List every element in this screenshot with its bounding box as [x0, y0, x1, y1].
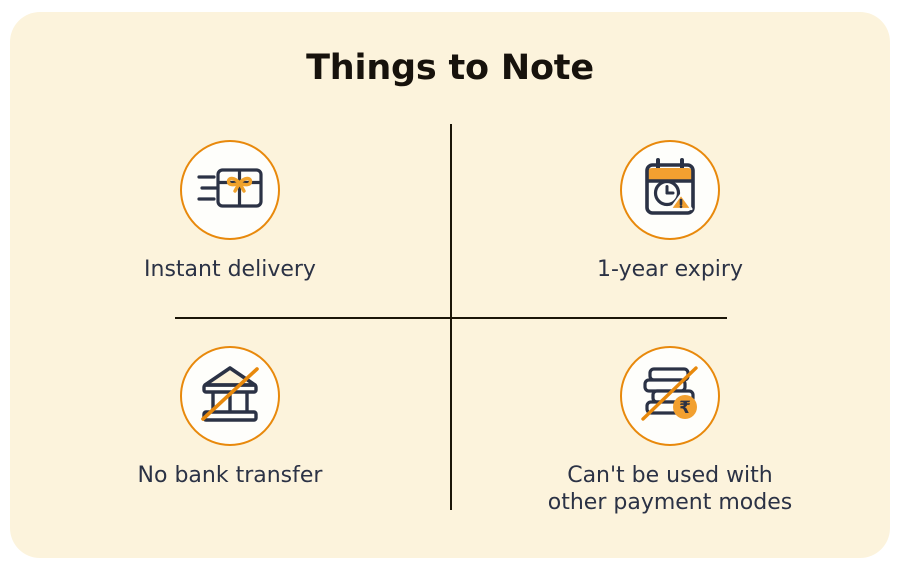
horizontal-divider: [175, 317, 727, 319]
note-label: Can't be used with other payment modes: [548, 462, 792, 516]
gift-card-speed-icon: [197, 160, 263, 221]
icon-circle: [180, 140, 280, 240]
things-to-note-card: Things to Note: [10, 12, 890, 558]
note-label: Instant delivery: [144, 256, 316, 283]
note-item-instant-delivery: Instant delivery: [10, 140, 450, 283]
note-item-no-other-payment-modes: ₹ Can't be used with other payment modes: [450, 346, 890, 516]
note-item-expiry: 1-year expiry: [450, 140, 890, 283]
note-label: 1-year expiry: [597, 256, 743, 283]
icon-circle: ₹: [620, 346, 720, 446]
note-label: No bank transfer: [138, 462, 323, 489]
svg-text:₹: ₹: [679, 398, 691, 418]
coins-rupee-crossed-out-icon: ₹: [639, 364, 701, 429]
bank-crossed-out-icon: [198, 364, 262, 429]
icon-circle: [180, 346, 280, 446]
calendar-clock-warning-icon: [639, 157, 701, 224]
note-item-no-bank-transfer: No bank transfer: [10, 346, 450, 489]
icon-circle: [620, 140, 720, 240]
page-title: Things to Note: [10, 48, 890, 88]
